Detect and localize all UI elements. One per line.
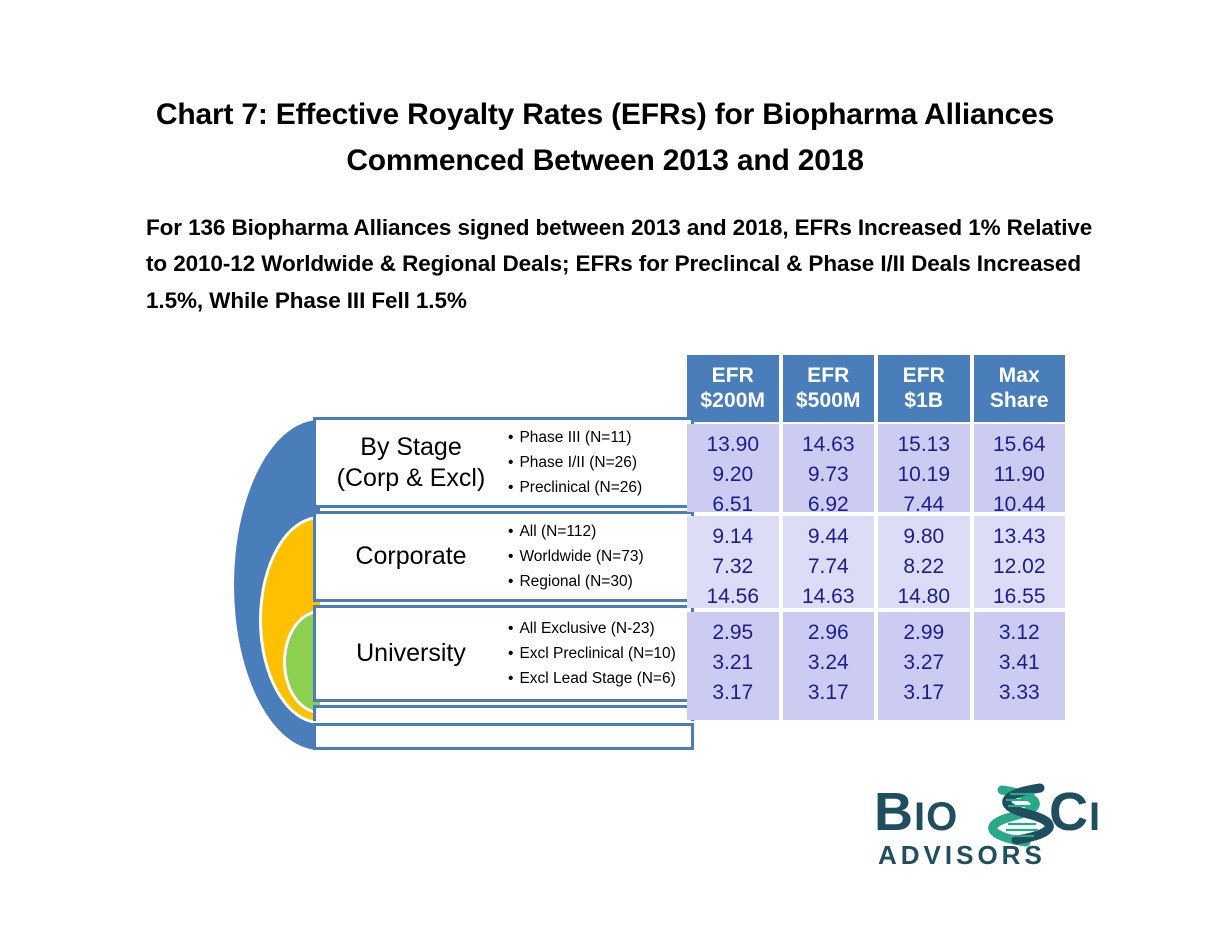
- value-col-efr-200m: 9.14 7.32 14.56: [687, 516, 779, 608]
- value-col-efr-500m: 2.96 3.24 3.17: [783, 612, 875, 720]
- group-name-line1: By Stage: [320, 432, 502, 463]
- table-values-by-stage: 13.90 9.20 6.51 14.63 9.73 6.92 15.13 10…: [687, 424, 1065, 512]
- bullet-item: All Exclusive (N-23): [508, 616, 691, 641]
- column-header-max-share[interactable]: Max Share: [974, 355, 1066, 422]
- bullet-item: Phase I/II (N=26): [508, 450, 691, 475]
- bullet-item: Phase III (N=11): [508, 425, 691, 450]
- dna-helix-icon: [993, 788, 1050, 842]
- value-col-max-share: 15.64 11.90 10.44: [974, 424, 1066, 512]
- nested-rings-diagram: [148, 415, 320, 755]
- nested-rings-svg: [148, 415, 320, 755]
- bullet-item: Excl Lead Stage (N=6): [508, 666, 691, 691]
- value-col-max-share: 13.43 12.02 16.55: [974, 516, 1066, 608]
- group-name-university: University: [316, 638, 502, 669]
- value-col-efr-200m: 2.95 3.21 3.17: [687, 612, 779, 720]
- biosci-advisors-logo: BIO CI ADVISORS: [874, 778, 1136, 870]
- bullet-list-by-stage: Phase III (N=11) Phase I/II (N=26) Precl…: [502, 425, 691, 500]
- column-header-line1: EFR: [807, 364, 849, 389]
- value-cell: 10.19: [897, 460, 950, 490]
- value-cell: 3.12: [999, 618, 1040, 648]
- column-header-efr-1b[interactable]: EFR $1B: [878, 355, 970, 422]
- value-cell: 11.90: [994, 460, 1045, 490]
- value-cell: 15.64: [993, 430, 1046, 460]
- slide-title: Chart 7: Effective Royalty Rates (EFRs) …: [95, 92, 1115, 183]
- value-cell: 14.56: [706, 582, 759, 612]
- table-spacer-box-upper: [313, 705, 694, 721]
- value-cell: 7.44: [903, 490, 944, 520]
- value-cell: 13.90: [706, 430, 759, 460]
- group-name-by-stage: By Stage (Corp & Excl): [316, 432, 502, 493]
- logo-word-bio: BIO: [874, 782, 958, 842]
- logo-tagline: ADVISORS: [878, 840, 1046, 870]
- table-values-university: 2.95 3.21 3.17 2.96 3.24 3.17 2.99 3.27 …: [687, 612, 1065, 720]
- value-cell: 2.95: [712, 618, 753, 648]
- efr-table: EFR $200M EFR $500M EFR $1B Max Share By…: [313, 355, 1065, 751]
- column-header-line1: Max: [999, 364, 1040, 389]
- column-header-efr-200m[interactable]: EFR $200M: [687, 355, 779, 422]
- logo-svg: BIO CI ADVISORS: [874, 778, 1136, 870]
- column-header-line2: $1B: [904, 389, 943, 414]
- column-header-efr-500m[interactable]: EFR $500M: [783, 355, 875, 422]
- column-header-line2: $200M: [700, 389, 765, 414]
- value-col-max-share: 3.12 3.41 3.33: [974, 612, 1066, 720]
- value-cell: 9.44: [808, 522, 849, 552]
- value-cell: 3.17: [712, 678, 753, 708]
- value-col-efr-200m: 13.90 9.20 6.51: [687, 424, 779, 512]
- table-spacer-box-lower: [313, 723, 694, 750]
- bullet-item: Regional (N=30): [508, 569, 691, 594]
- value-col-efr-500m: 9.44 7.74 14.63: [783, 516, 875, 608]
- value-cell: 14.63: [802, 582, 855, 612]
- value-cell: 14.80: [897, 582, 950, 612]
- value-cell: 13.43: [993, 522, 1046, 552]
- column-header-line2: Share: [990, 389, 1049, 414]
- column-header-line2: $500M: [796, 389, 861, 414]
- value-cell: 6.92: [808, 490, 849, 520]
- bullet-item: Preclinical (N=26): [508, 475, 691, 500]
- value-cell: 3.27: [903, 648, 944, 678]
- table-values-corporate: 9.14 7.32 14.56 9.44 7.74 14.63 9.80 8.2…: [687, 516, 1065, 608]
- logo-word-ci: CI: [1049, 782, 1101, 842]
- table-row-label-university[interactable]: University All Exclusive (N-23) Excl Pre…: [313, 605, 694, 702]
- value-cell: 7.74: [808, 552, 849, 582]
- value-cell: 12.02: [993, 552, 1046, 582]
- value-cell: 15.13: [897, 430, 950, 460]
- value-cell: 3.17: [903, 678, 944, 708]
- value-cell: 3.24: [808, 648, 849, 678]
- value-cell: 6.51: [712, 490, 753, 520]
- bullet-item: All (N=112): [508, 519, 691, 544]
- table-header-row: EFR $200M EFR $500M EFR $1B Max Share: [687, 355, 1065, 422]
- value-cell: 14.63: [802, 430, 855, 460]
- value-col-efr-1b: 9.80 8.22 14.80: [878, 516, 970, 608]
- value-cell: 3.33: [999, 678, 1040, 708]
- value-col-efr-1b: 2.99 3.27 3.17: [878, 612, 970, 720]
- value-cell: 7.32: [712, 552, 753, 582]
- bullet-item: Worldwide (N=73): [508, 544, 691, 569]
- column-header-line1: EFR: [903, 364, 945, 389]
- value-cell: 9.14: [712, 522, 753, 552]
- table-row-label-by-stage[interactable]: By Stage (Corp & Excl) Phase III (N=11) …: [313, 417, 694, 508]
- value-cell: 3.17: [808, 678, 849, 708]
- group-name-line1: University: [320, 638, 502, 669]
- value-cell: 3.41: [999, 648, 1040, 678]
- slide-subtitle: For 136 Biopharma Alliances signed betwe…: [146, 210, 1106, 319]
- value-cell: 10.44: [993, 490, 1046, 520]
- value-cell: 8.22: [903, 552, 944, 582]
- bullet-item: Excl Preclinical (N=10): [508, 641, 691, 666]
- column-header-line1: EFR: [712, 364, 754, 389]
- value-col-efr-500m: 14.63 9.73 6.92: [783, 424, 875, 512]
- group-name-corporate: Corporate: [316, 541, 502, 572]
- table-row-label-corporate[interactable]: Corporate All (N=112) Worldwide (N=73) R…: [313, 511, 694, 602]
- value-col-efr-1b: 15.13 10.19 7.44: [878, 424, 970, 512]
- value-cell: 2.96: [808, 618, 849, 648]
- value-cell: 9.20: [712, 460, 753, 490]
- group-name-line1: Corporate: [320, 541, 502, 572]
- value-cell: 9.73: [808, 460, 849, 490]
- value-cell: 3.21: [712, 648, 753, 678]
- value-cell: 16.55: [993, 582, 1046, 612]
- value-cell: 2.99: [903, 618, 944, 648]
- value-cell: 9.80: [903, 522, 944, 552]
- group-name-line2: (Corp & Excl): [320, 463, 502, 494]
- bullet-list-university: All Exclusive (N-23) Excl Preclinical (N…: [502, 616, 691, 691]
- bullet-list-corporate: All (N=112) Worldwide (N=73) Regional (N…: [502, 519, 691, 594]
